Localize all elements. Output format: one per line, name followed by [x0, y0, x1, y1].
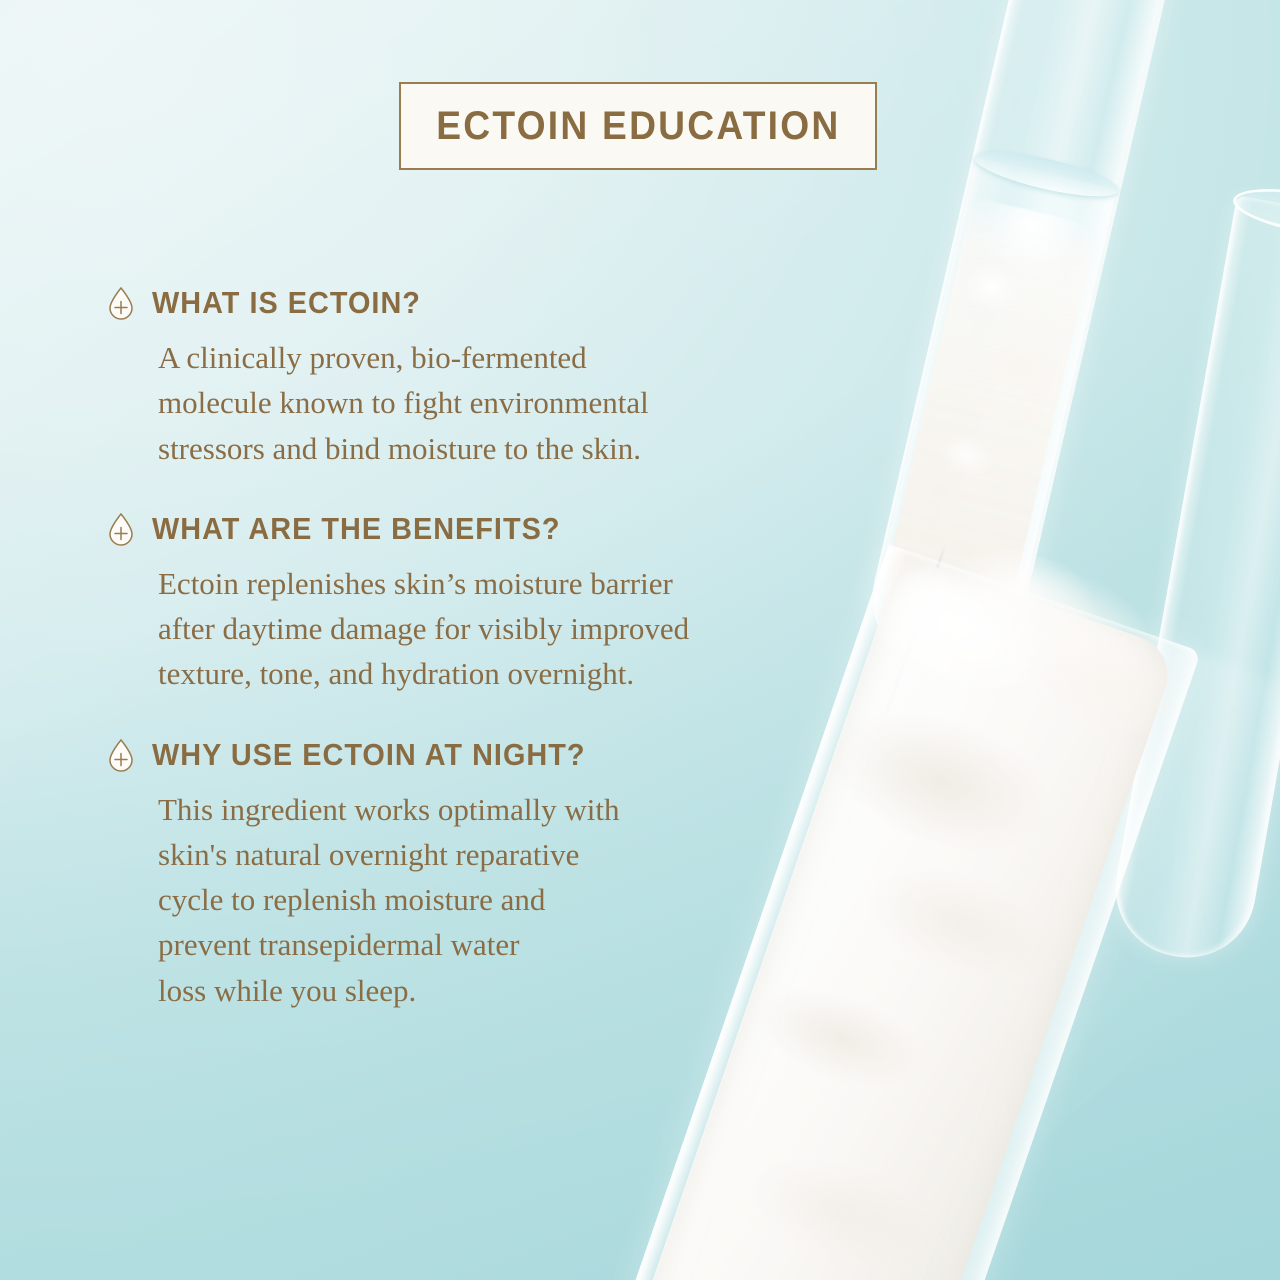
water-drop-plus-icon — [106, 738, 136, 772]
faq-item-benefits: WHAT ARE THE BENEFITS? Ectoin replenishe… — [106, 511, 906, 697]
faq-item-why-at-night: WHY USE ECTOIN AT NIGHT? This ingredient… — [106, 737, 906, 1013]
page-title-box: ECTOIN EDUCATION — [399, 82, 877, 170]
faq-answer: Ectoin replenishes skin’s moisture barri… — [158, 561, 906, 697]
water-drop-plus-icon — [106, 286, 136, 320]
faq-heading-row: WHAT ARE THE BENEFITS? — [106, 511, 906, 547]
faq-answer: A clinically proven, bio-fermented molec… — [158, 335, 906, 471]
faq-question: WHAT IS ECTOIN? — [152, 285, 421, 321]
faq-answer: This ingredient works optimally with ski… — [158, 787, 906, 1013]
faq-question: WHY USE ECTOIN AT NIGHT? — [152, 737, 586, 773]
faq-heading-row: WHY USE ECTOIN AT NIGHT? — [106, 737, 906, 773]
ectoin-education-infographic: ECTOIN EDUCATION WHAT IS ECTOIN? A clini… — [0, 0, 1280, 1280]
faq-question: WHAT ARE THE BENEFITS? — [152, 511, 560, 547]
faq-item-what-is-ectoin: WHAT IS ECTOIN? A clinically proven, bio… — [106, 285, 906, 471]
water-drop-plus-icon — [106, 512, 136, 546]
content-layer: ECTOIN EDUCATION WHAT IS ECTOIN? A clini… — [0, 0, 1280, 1280]
faq-list: WHAT IS ECTOIN? A clinically proven, bio… — [106, 285, 906, 1013]
faq-heading-row: WHAT IS ECTOIN? — [106, 285, 906, 321]
page-title: ECTOIN EDUCATION — [436, 104, 840, 149]
